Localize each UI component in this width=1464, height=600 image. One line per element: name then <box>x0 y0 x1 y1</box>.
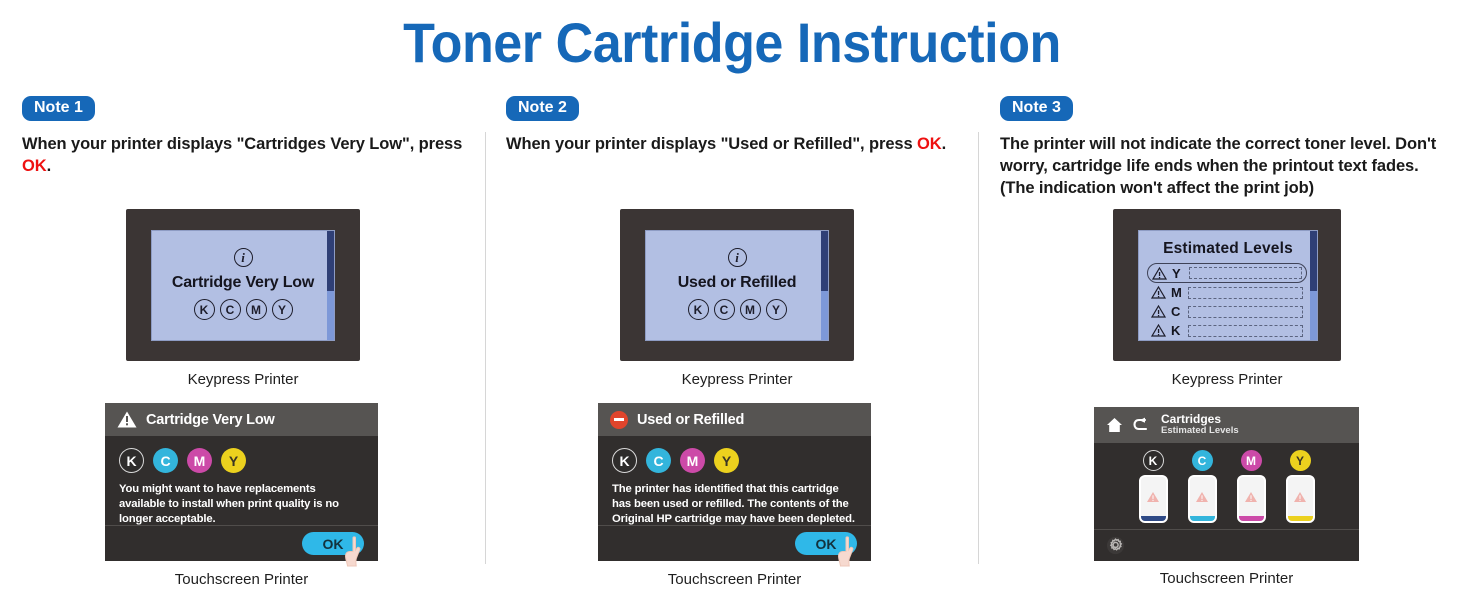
toner-dot-m: M <box>246 299 267 320</box>
estimated-levels-title: Estimated Levels <box>1139 240 1317 258</box>
touchscreen-body-1: K C M Y You might want to have replaceme… <box>105 436 378 527</box>
warning-triangle-icon <box>1151 286 1166 299</box>
keypress-frame-2: i Used or Refilled K C M Y <box>620 209 854 361</box>
touchscreen-subtitle-3: Estimated Levels <box>1161 426 1239 437</box>
caption-keypress-2: Keypress Printer <box>620 371 854 388</box>
keypress-message-2: Used or Refilled <box>646 274 828 292</box>
level-bar <box>1188 287 1303 299</box>
keypress-frame-1: i Cartridge Very Low K C M Y <box>126 209 360 361</box>
level-row-y: Y <box>1147 263 1307 283</box>
cartridge-m[interactable]: M <box>1232 450 1270 523</box>
warning-triangle-icon <box>1152 267 1167 280</box>
note-badge-3: Note 3 <box>1000 96 1073 121</box>
gear-icon[interactable] <box>1106 536 1125 555</box>
touchscreen-header-1: Cartridge Very Low <box>105 403 378 436</box>
keypress-screen-3: Estimated Levels Y <box>1138 230 1318 341</box>
toner-dot-y: Y <box>221 448 246 473</box>
touchscreen-title-1: Cartridge Very Low <box>146 412 275 428</box>
toner-dot-k: K <box>119 448 144 473</box>
keypress-device-1: i Cartridge Very Low K C M Y Keypress Pr… <box>126 209 360 388</box>
caption-touchscreen-1: Touchscreen Printer <box>105 571 378 588</box>
touchscreen-header-2: Used or Refilled <box>598 403 871 436</box>
level-letter: M <box>1171 285 1183 300</box>
touchscreen-footer-1: OK <box>105 525 378 561</box>
warning-triangle-icon <box>1195 491 1209 503</box>
caption-keypress-1: Keypress Printer <box>126 371 360 388</box>
toner-dot-k: K <box>612 448 637 473</box>
toner-dot-y: Y <box>714 448 739 473</box>
touchscreen-dot-row-2: K C M Y <box>612 448 857 473</box>
level-row-c: C <box>1147 302 1307 321</box>
touchscreen-title-group-3: Cartridges Estimated Levels <box>1161 413 1239 437</box>
note-column-3: Note 3 The printer will not indicate the… <box>1000 96 1455 200</box>
touchscreen-device-3: Cartridges Estimated Levels K <box>1094 407 1359 587</box>
touchscreen-dot-row-1: K C M Y <box>119 448 364 473</box>
toner-dot-c: C <box>646 448 671 473</box>
level-bar <box>1188 325 1303 337</box>
touchscreen-footer-2: OK <box>598 525 871 561</box>
touchscreen-footer-3 <box>1094 529 1359 561</box>
touchscreen-message-2: The printer has identified that this car… <box>612 482 857 527</box>
cartridge-base-y <box>1288 516 1313 521</box>
warning-triangle-icon <box>1146 491 1160 503</box>
page-title: Toner Cartridge Instruction <box>51 10 1413 75</box>
level-letter: Y <box>1172 266 1184 281</box>
home-icon[interactable] <box>1106 417 1123 433</box>
level-bar <box>1188 306 1303 318</box>
warning-triangle-icon <box>1293 491 1307 503</box>
keypress-screen-1: i Cartridge Very Low K C M Y <box>151 230 335 341</box>
cartridge-y[interactable]: Y <box>1281 450 1319 523</box>
note-badge-1: Note 1 <box>22 96 95 121</box>
note-instruction-1-post: . <box>47 157 51 175</box>
keypress-device-2: i Used or Refilled K C M Y Keypress Prin… <box>620 209 854 388</box>
note-instruction-1-pre: When your printer displays "Cartridges V… <box>22 135 462 153</box>
touchscreen-frame-1: Cartridge Very Low K C M Y You might wan… <box>105 403 378 561</box>
cartridge-badge-c: C <box>1192 450 1213 471</box>
caption-touchscreen-3: Touchscreen Printer <box>1094 570 1359 587</box>
toner-dot-c: C <box>220 299 241 320</box>
touchscreen-device-1: Cartridge Very Low K C M Y You might wan… <box>105 403 378 588</box>
note-instruction-2-pre: When your printer displays "Used or Refi… <box>506 135 917 153</box>
note-instruction-1-ok: OK <box>22 157 47 175</box>
note-instruction-2-post: . <box>942 135 946 153</box>
caption-keypress-3: Keypress Printer <box>1113 371 1341 388</box>
toner-dot-y: Y <box>766 299 787 320</box>
toner-dot-c: C <box>714 299 735 320</box>
instruction-sheet: Toner Cartridge Instruction Note 1 When … <box>0 0 1464 600</box>
note-instruction-2-ok: OK <box>917 135 942 153</box>
level-letter: C <box>1171 304 1183 319</box>
keypress-dot-row-1: K C M Y <box>152 299 334 320</box>
warning-triangle-icon <box>1151 305 1166 318</box>
stop-minus-icon <box>610 411 628 429</box>
toner-dot-m: M <box>680 448 705 473</box>
warning-triangle-icon <box>117 411 137 428</box>
level-bar <box>1189 267 1302 279</box>
column-divider-1 <box>485 132 486 564</box>
column-divider-2 <box>978 132 979 564</box>
level-letter: K <box>1171 323 1183 338</box>
toner-dot-m: M <box>187 448 212 473</box>
toner-dot-m: M <box>740 299 761 320</box>
note-badge-2: Note 2 <box>506 96 579 121</box>
cartridge-body-c <box>1188 475 1217 523</box>
cartridge-body-k <box>1139 475 1168 523</box>
info-icon: i <box>234 248 253 267</box>
toner-dot-k: K <box>194 299 215 320</box>
toner-dot-c: C <box>153 448 178 473</box>
caption-touchscreen-2: Touchscreen Printer <box>598 571 871 588</box>
toner-dot-y: Y <box>272 299 293 320</box>
cartridge-badge-y: Y <box>1290 450 1311 471</box>
keypress-dot-row-2: K C M Y <box>646 299 828 320</box>
level-row-k: K <box>1147 321 1307 340</box>
cartridge-base-k <box>1141 516 1166 521</box>
note-instruction-1: When your printer displays "Cartridges V… <box>22 134 477 178</box>
keypress-frame-3: Estimated Levels Y <box>1113 209 1341 361</box>
back-arrow-icon[interactable] <box>1133 417 1151 433</box>
touchscreen-header-3: Cartridges Estimated Levels <box>1094 407 1359 443</box>
warning-triangle-icon <box>1151 324 1166 337</box>
cartridge-base-c <box>1190 516 1215 521</box>
keypress-device-3: Estimated Levels Y <box>1113 209 1341 388</box>
hand-pointer-icon <box>835 535 861 569</box>
estimated-levels-rows: Y M <box>1139 263 1317 340</box>
note-column-1: Note 1 When your printer displays "Cartr… <box>22 96 477 178</box>
level-row-m: M <box>1147 283 1307 302</box>
keypress-message-1: Cartridge Very Low <box>152 274 334 292</box>
keypress-screen-2: i Used or Refilled K C M Y <box>645 230 829 341</box>
hand-pointer-icon <box>342 535 368 569</box>
note-column-2: Note 2 When your printer displays "Used … <box>506 96 966 156</box>
touchscreen-frame-2: Used or Refilled K C M Y The printer has… <box>598 403 871 561</box>
cartridge-badge-k: K <box>1143 450 1164 471</box>
cartridge-base-m <box>1239 516 1264 521</box>
cartridge-c[interactable]: C <box>1183 450 1221 523</box>
info-icon: i <box>728 248 747 267</box>
cartridge-levels-row: K C <box>1094 443 1359 529</box>
cartridge-body-m <box>1237 475 1266 523</box>
note-instruction-3: The printer will not indicate the correc… <box>1000 134 1455 200</box>
note-instruction-2: When your printer displays "Used or Refi… <box>506 134 966 156</box>
toner-dot-k: K <box>688 299 709 320</box>
cartridge-badge-m: M <box>1241 450 1262 471</box>
touchscreen-title-2: Used or Refilled <box>637 412 744 428</box>
touchscreen-message-1: You might want to have replacements avai… <box>119 482 364 527</box>
cartridge-body-y <box>1286 475 1315 523</box>
touchscreen-title-3: Cartridges <box>1161 413 1239 426</box>
touchscreen-body-2: K C M Y The printer has identified that … <box>598 436 871 527</box>
cartridge-k[interactable]: K <box>1134 450 1172 523</box>
warning-triangle-icon <box>1244 491 1258 503</box>
touchscreen-frame-3: Cartridges Estimated Levels K <box>1094 407 1359 561</box>
touchscreen-device-2: Used or Refilled K C M Y The printer has… <box>598 403 871 588</box>
